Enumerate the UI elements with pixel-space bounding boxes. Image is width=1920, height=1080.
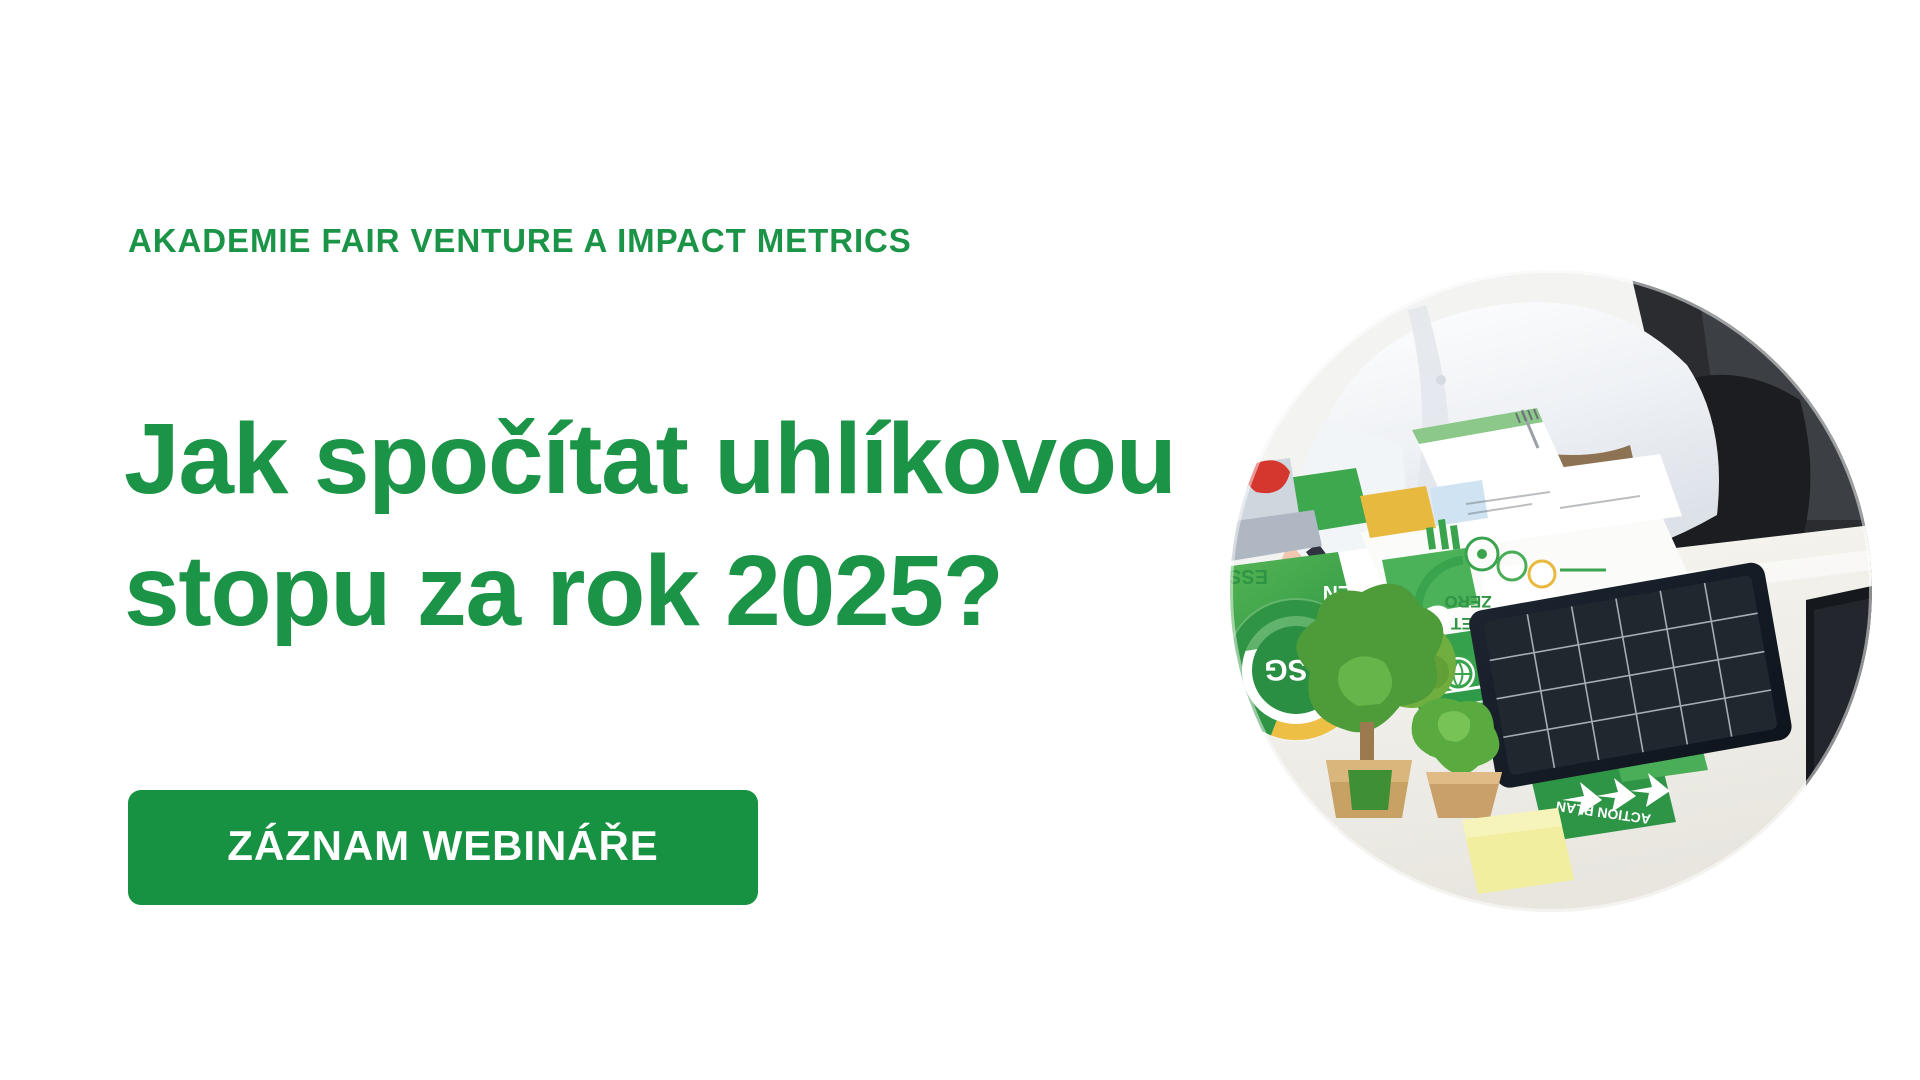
webinar-promo-banner: AKADEMIE FAIR VENTURE A IMPACT METRICS J… bbox=[0, 0, 1920, 1080]
webinar-hero-photo: ESG NET ZERO GREEN ESS ACTION PLAN bbox=[1230, 270, 1872, 912]
page-title: Jak spočítat uhlíkovou stopu za rok 2025… bbox=[124, 393, 1224, 657]
text-content-column: AKADEMIE FAIR VENTURE A IMPACT METRICS J… bbox=[128, 0, 1208, 1080]
svg-text:ESS: ESS bbox=[1230, 565, 1268, 587]
page-title-line-1: Jak spočítat uhlíkovou bbox=[124, 393, 1224, 525]
hero-photo-illustration: ESG NET ZERO GREEN ESS ACTION PLAN bbox=[1230, 270, 1872, 912]
webinar-recording-button[interactable]: ZÁZNAM WEBINÁŘE bbox=[128, 790, 758, 905]
eyebrow-label: AKADEMIE FAIR VENTURE A IMPACT METRICS bbox=[128, 224, 912, 257]
svg-text:ZERO: ZERO bbox=[1444, 592, 1491, 611]
page-title-line-2: stopu za rok 2025? bbox=[124, 525, 1224, 657]
